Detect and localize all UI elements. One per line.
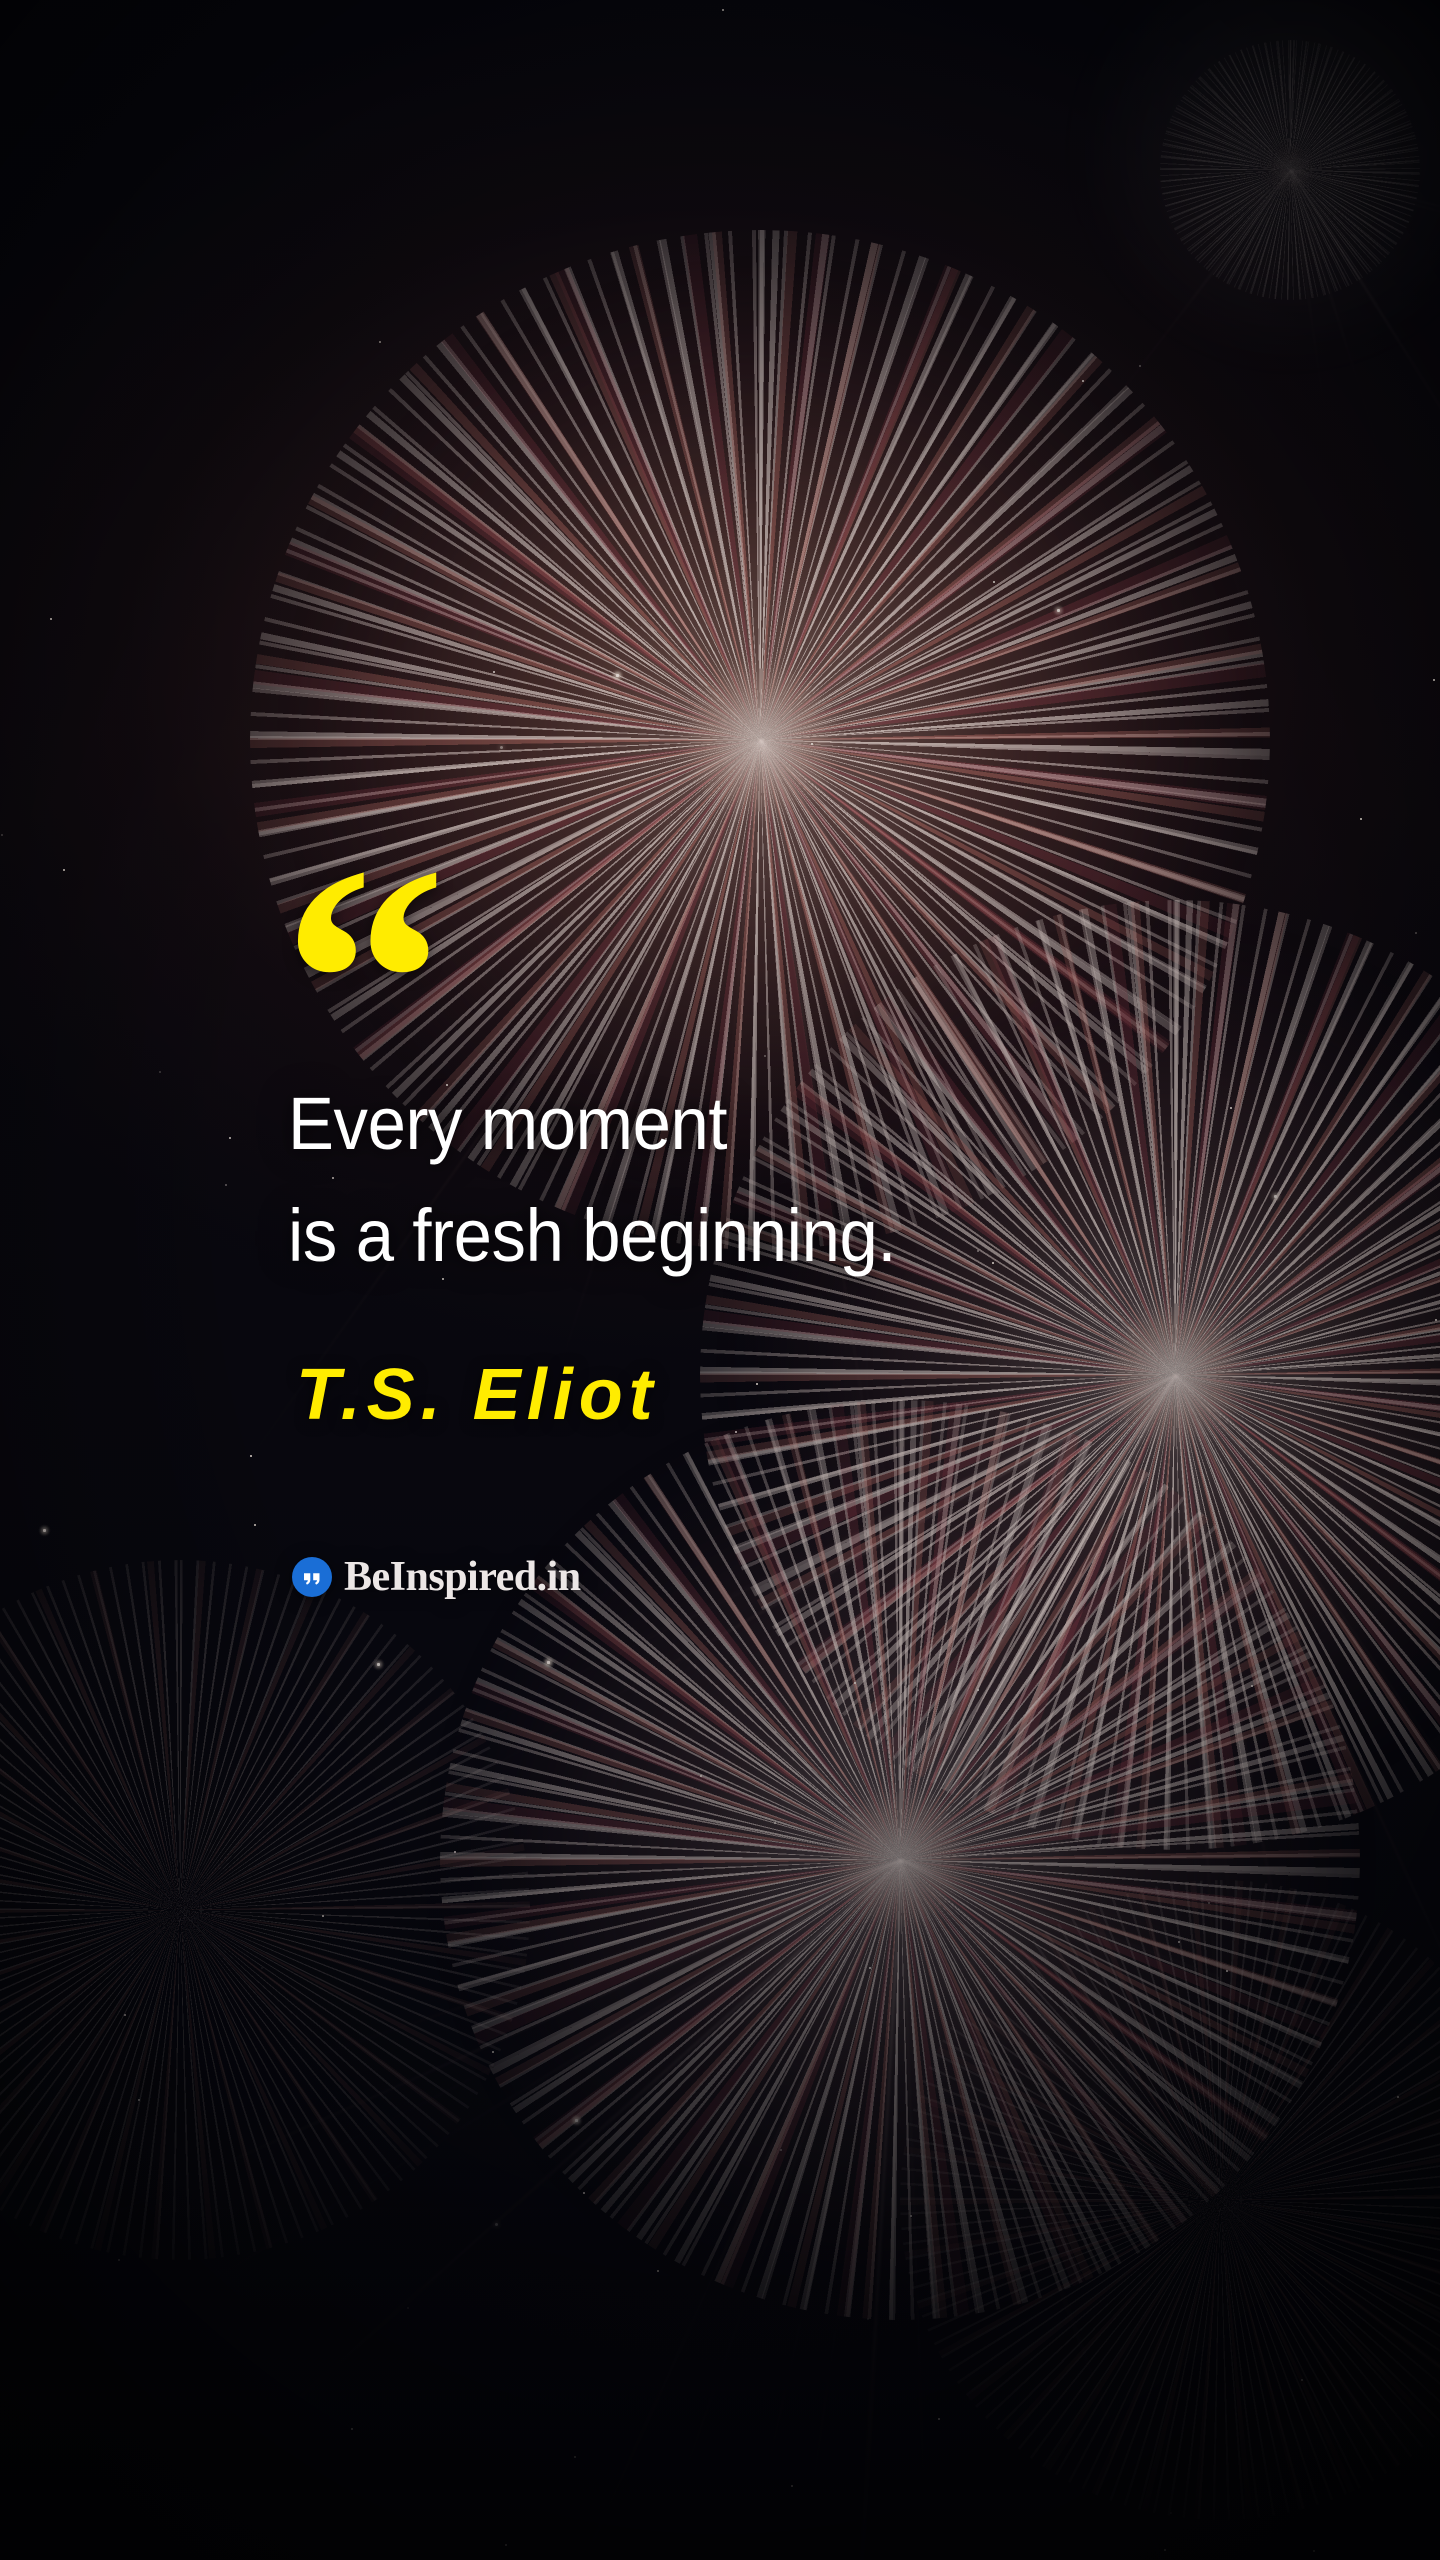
quote-text: Every moment is a fresh beginning. — [288, 1068, 1274, 1292]
quote-badge-icon — [292, 1557, 332, 1597]
brand-name: BeInspired.in — [344, 1556, 581, 1598]
quote-line-1: Every moment — [288, 1068, 1274, 1180]
quotation-mark-icon: “ — [282, 880, 437, 1085]
quote-poster: “ Every moment is a fresh beginning. T.S… — [0, 0, 1440, 2560]
quote-line-2: is a fresh beginning. — [288, 1180, 1274, 1292]
poster-content: “ Every moment is a fresh beginning. T.S… — [0, 0, 1440, 2560]
brand-logo[interactable]: BeInspired.in — [292, 1556, 581, 1598]
quote-author: T.S. Eliot — [296, 1358, 659, 1434]
